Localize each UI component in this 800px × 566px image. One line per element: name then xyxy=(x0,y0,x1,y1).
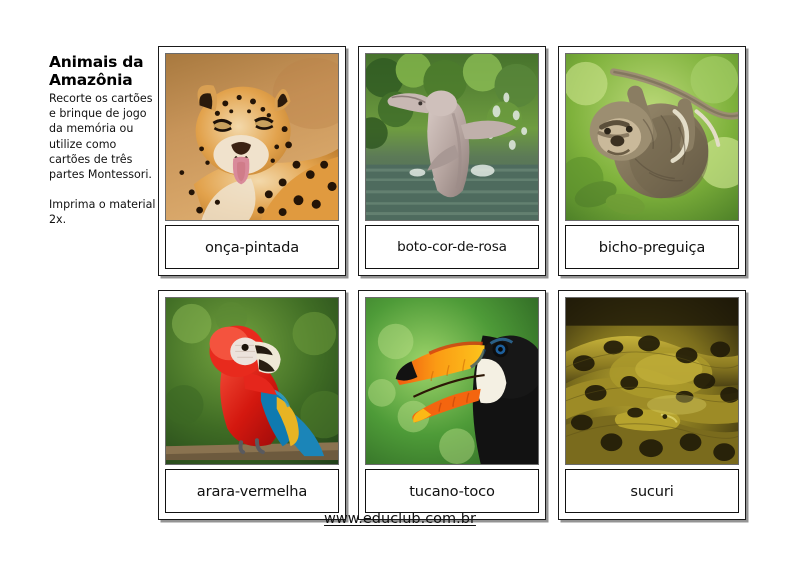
card-grid: onça-pintada xyxy=(158,46,758,534)
card-row-1: onça-pintada xyxy=(158,46,758,276)
anaconda-photo xyxy=(565,297,739,465)
card-label-text: onça-pintada xyxy=(205,239,299,256)
page-title-line2: Amazônia xyxy=(49,72,157,90)
card-label-text: bicho-preguiça xyxy=(599,239,705,256)
card-label-text: arara-vermelha xyxy=(197,483,307,500)
amazon-river-dolphin-photo xyxy=(365,53,539,221)
card-label-onca-pintada: onça-pintada xyxy=(165,225,339,269)
jaguar-photo xyxy=(165,53,339,221)
instructions-block: Animais da Amazônia Recorte os cartões e… xyxy=(49,54,157,227)
worksheet-page: Animais da Amazônia Recorte os cartões e… xyxy=(0,0,800,566)
sloth-photo xyxy=(565,53,739,221)
toco-toucan-photo xyxy=(365,297,539,465)
footer: www.educlub.com.br xyxy=(0,508,800,527)
card-label-boto-cor-de-rosa: boto-cor-de-rosa xyxy=(365,225,539,269)
scarlet-macaw-photo xyxy=(165,297,339,465)
card-label-sucuri: sucuri xyxy=(565,469,739,513)
card-arara-vermelha[interactable]: arara-vermelha xyxy=(158,290,346,520)
page-title-line1: Animais da xyxy=(49,54,157,72)
card-boto-cor-de-rosa[interactable]: boto-cor-de-rosa xyxy=(358,46,546,276)
instructions-paragraph-1: Recorte os cartões e brinque de jogo da … xyxy=(49,91,157,182)
card-row-2: arara-vermelha xyxy=(158,290,758,520)
instructions-paragraph-2: Imprima o material 2x. xyxy=(49,197,157,227)
card-label-text: tucano-toco xyxy=(409,483,495,500)
card-onca-pintada[interactable]: onça-pintada xyxy=(158,46,346,276)
card-bicho-preguica[interactable]: bicho-preguiça xyxy=(558,46,746,276)
page-title: Animais da Amazônia xyxy=(49,54,157,90)
card-label-text: sucuri xyxy=(630,483,673,500)
card-label-tucano-toco: tucano-toco xyxy=(365,469,539,513)
card-label-text: boto-cor-de-rosa xyxy=(397,239,507,255)
card-sucuri[interactable]: sucuri xyxy=(558,290,746,520)
card-tucano-toco[interactable]: tucano-toco xyxy=(358,290,546,520)
card-label-arara-vermelha: arara-vermelha xyxy=(165,469,339,513)
card-label-bicho-preguica: bicho-preguiça xyxy=(565,225,739,269)
footer-url[interactable]: www.educlub.com.br xyxy=(324,511,476,527)
